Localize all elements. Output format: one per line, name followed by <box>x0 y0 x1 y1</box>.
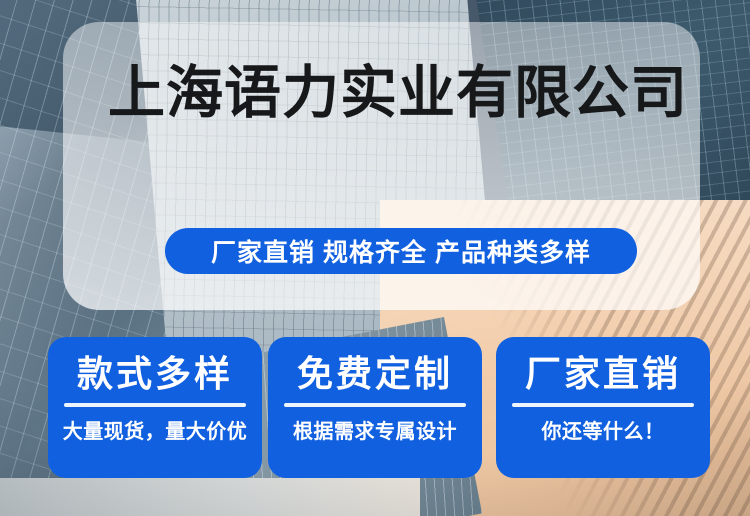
feature-card-1-divider <box>64 403 246 407</box>
feature-card-3-divider <box>512 403 694 407</box>
feature-card-3-subtitle: 你还等什么！ <box>542 420 665 444</box>
tagline-pill: 厂家直销 规格齐全 产品种类多样 <box>165 228 637 274</box>
promo-banner: 上海语力实业有限公司 厂家直销 规格齐全 产品种类多样 款式多样 大量现货，量大… <box>0 0 750 516</box>
feature-card-3[interactable]: 厂家直销 你还等什么！ <box>496 337 710 478</box>
feature-card-2-title: 免费定制 <box>297 354 453 394</box>
page-title: 上海语力实业有限公司 <box>108 57 708 129</box>
feature-card-1-title: 款式多样 <box>77 354 233 394</box>
feature-card-1[interactable]: 款式多样 大量现货，量大价优 <box>48 337 262 478</box>
feature-card-3-title: 厂家直销 <box>525 354 681 394</box>
feature-card-2-subtitle: 根据需求专属设计 <box>293 420 457 444</box>
tagline-text: 厂家直销 规格齐全 产品种类多样 <box>211 233 591 269</box>
feature-card-2-divider <box>284 403 466 407</box>
feature-card-2[interactable]: 免费定制 根据需求专属设计 <box>268 337 482 478</box>
feature-card-1-subtitle: 大量现货，量大价优 <box>63 420 248 444</box>
